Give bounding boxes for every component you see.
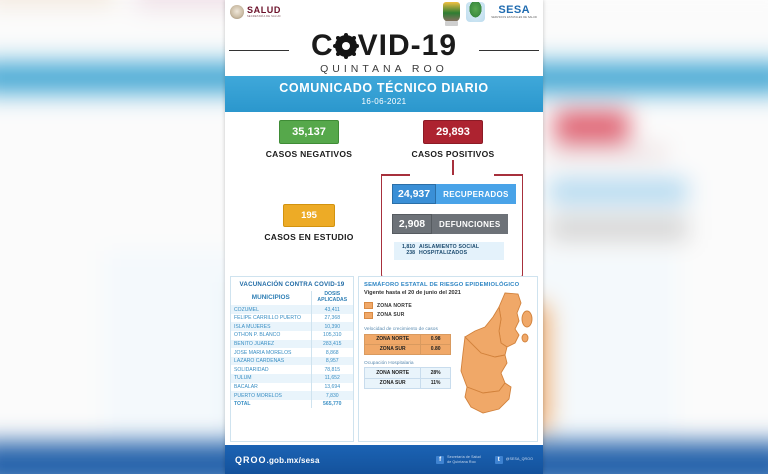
growth-rate-block: Velocidad de crecimiento de casos ZONA N… [359,321,456,355]
dosis-aplicadas-value: 283,415 [311,340,353,349]
table-row: ISLA MUJERES10,390 [231,322,353,331]
table-row: TOTAL565,770 [231,400,353,409]
stat-cases-in-study: 195 CASOS EN ESTUDIO [245,204,373,242]
dosis-aplicadas-value: 11,652 [311,374,353,383]
municipio-name: TULUM [231,374,311,383]
facebook-handle: Secretaría de Salud de Quintana Roo [447,455,481,464]
semaphore-title: SEMÁFORO ESTATAL DE RIESGO EPIDEMIOLÓGIC… [359,277,537,288]
website-url[interactable]: QROO.gob.mx/sesa [235,455,320,465]
logo-bar: SALUD SECRETARÍA DE SALUD SESA SERVICIOS… [225,0,543,30]
growth-value-norte: 0.98 [421,334,451,344]
facebook-line2: de Quintana Roo [447,460,476,464]
cases-in-study-value: 195 [283,204,335,227]
url-brand: QROO [235,455,267,465]
breakdown-row: 238 HOSPITALIZADOS [398,251,500,257]
vaccination-table: MUNICIPIOS DOSIS APLICADAS COZUMEL43,411… [231,291,353,408]
hospital-occupancy-block: Ocupación Hospitalaria ZONA NORTE 28% ZO… [359,355,456,389]
title-vid19: VID-19 [358,31,457,61]
growth-value-sur: 0.80 [421,344,451,354]
active-breakdown-box: 1,810 AISLAMIENTO SOCIAL 238 HOSPITALIZA… [394,242,504,260]
municipio-name: LAZARO CARDENAS [231,357,311,366]
municipio-name: ISLA MUJERES [231,322,311,331]
sesa-tree-seal-icon [466,2,485,22]
occupancy-zone-sur: ZONA SUR [365,378,421,388]
sesa-sublabel: SERVICIOS ESTATALES DE SALUD [491,17,537,20]
municipio-name: OTHON P. BLANCO [231,331,311,340]
recovered-label: RECUPERADOS [436,184,516,204]
legend-swatch-norte [364,302,373,309]
dosis-aplicadas-value: 78,815 [311,365,353,374]
col-dosis-aplicadas: DOSIS APLICADAS [311,291,353,305]
positive-cases-label: CASOS POSITIVOS [385,149,521,159]
title-rule-right [479,50,539,51]
hospitalized-value: 238 [398,251,415,257]
municipio-name: SOLIDARIDAD [231,365,311,374]
twitter-icon: t [495,456,503,464]
twitter-link[interactable]: t @SESA_QROO [495,456,533,464]
salud-logo: SALUD SECRETARÍA DE SALUD [230,5,281,19]
vaccination-card: VACUNACIÓN CONTRA COVID-19 MUNICIPIOS DO… [230,276,354,442]
dosis-aplicadas-value: 8,957 [311,357,353,366]
hospitalized-label: HOSPITALIZADOS [419,251,467,257]
dosis-aplicadas-value: 7,830 [311,391,353,400]
recovered-value: 24,937 [392,184,436,204]
stat-recovered: 24,937 RECUPERADOS [392,184,516,204]
banner-date: 16-06-2021 [225,97,543,106]
banner: COMUNICADO TÉCNICO DIARIO 16-06-2021 [225,76,543,112]
right-logos: SESA SERVICIOS ESTATALES DE SALUD [443,2,537,22]
dosis-aplicadas-value: 27,368 [311,314,353,323]
cases-in-study-label: CASOS EN ESTUDIO [245,232,373,242]
positive-cases-value: 29,893 [423,120,483,144]
municipio-name: PUERTO MORELOS [231,391,311,400]
table-row: FELIPE CARRILLO PUERTO27,368 [231,314,353,323]
url-rest: .gob.mx/sesa [267,456,320,465]
dosis-aplicadas-value: 565,770 [311,400,353,409]
occupancy-value-norte: 28% [421,368,451,378]
table-row: ZONA SUR 11% [365,378,451,388]
table-row: JOSE MARIA MORELOS8,868 [231,348,353,357]
growth-zone-norte: ZONA NORTE [365,334,421,344]
stat-deaths: 2,908 DEFUNCIONES [392,214,508,234]
screenshot-stage: SALUD SECRETARÍA DE SALUD SESA SERVICIOS… [0,0,768,474]
sesa-logo: SESA SERVICIOS ESTATALES DE SALUD [491,5,537,20]
table-row: ZONA NORTE 0.98 [365,334,451,344]
deaths-label: DEFUNCIONES [432,214,508,234]
bracket-stem [452,160,454,175]
social-links: f Secretaría de Salud de Quintana Roo t … [436,455,533,464]
mexico-eagle-icon [230,5,244,19]
page-subtitle: QUINTANA ROO [320,63,448,75]
negative-cases-label: CASOS NEGATIVOS [245,149,373,159]
dosis-aplicadas-value: 10,390 [311,322,353,331]
quintana-roo-map [455,291,538,419]
table-row: ZONA SUR 0.80 [365,344,451,354]
coronavirus-icon [335,35,357,57]
stats-section: 35,137 CASOS NEGATIVOS 29,893 CASOS POSI… [225,112,543,282]
sesa-label: SESA [491,5,537,16]
facebook-link[interactable]: f Secretaría de Salud de Quintana Roo [436,455,481,464]
table-row: ZONA NORTE 28% [365,368,451,378]
municipio-name: FELIPE CARRILLO PUERTO [231,314,311,323]
table-row: PUERTO MORELOS7,830 [231,391,353,400]
municipio-name: BACALAR [231,383,311,392]
title-c: C [311,31,334,61]
table-row: TULUM11,652 [231,374,353,383]
col-municipios: MUNICIPIOS [231,291,311,305]
salud-label: SALUD [247,6,281,15]
legend-label-norte: ZONA NORTE [377,303,412,309]
table-row: OTHON P. BLANCO105,310 [231,331,353,340]
facebook-icon: f [436,456,444,464]
negative-cases-value: 35,137 [279,120,339,144]
bottom-panels: VACUNACIÓN CONTRA COVID-19 MUNICIPIOS DO… [225,276,543,445]
poster-title-block: C VID-19 QUINTANA ROO [225,30,543,76]
table-row: BENITO JUAREZ283,415 [231,340,353,349]
table-row: LAZARO CARDENAS8,957 [231,357,353,366]
twitter-handle: @SESA_QROO [506,457,533,461]
table-row: COZUMEL43,411 [231,305,353,314]
semaphore-card: SEMÁFORO ESTATAL DE RIESGO EPIDEMIOLÓGIC… [358,276,538,442]
table-header-row: MUNICIPIOS DOSIS APLICADAS [231,291,353,305]
growth-rate-table: ZONA NORTE 0.98 ZONA SUR 0.80 [364,334,451,355]
positive-breakdown-bracket: 24,937 RECUPERADOS 2,908 DEFUNCIONES 1,8… [381,174,523,277]
footer: QROO.gob.mx/sesa f Secretaría de Salud d… [225,445,543,474]
salud-sublabel: SECRETARÍA DE SALUD [247,16,281,19]
growth-zone-sur: ZONA SUR [365,344,421,354]
occupancy-table: ZONA NORTE 28% ZONA SUR 11% [364,367,451,388]
vaccination-table-body: COZUMEL43,411FELIPE CARRILLO PUERTO27,36… [231,305,353,408]
deaths-value: 2,908 [392,214,432,234]
table-row: SOLIDARIDAD78,815 [231,365,353,374]
legend-label-sur: ZONA SUR [377,312,405,318]
stat-positive-cases: 29,893 CASOS POSITIVOS [385,120,521,159]
growth-rate-heading: Velocidad de crecimiento de casos [364,327,451,332]
page-title: C VID-19 [311,31,457,61]
dosis-aplicadas-value: 8,868 [311,348,353,357]
quintana-roo-seal-icon [443,2,460,22]
dosis-aplicadas-value: 43,411 [311,305,353,314]
municipio-name: COZUMEL [231,305,311,314]
occupancy-heading: Ocupación Hospitalaria [364,361,451,366]
municipio-name: JOSE MARIA MORELOS [231,348,311,357]
occupancy-zone-norte: ZONA NORTE [365,368,421,378]
title-rule-left [229,50,289,51]
legend-swatch-sur [364,312,373,319]
municipio-name: TOTAL [231,400,311,409]
covid-report-poster: SALUD SECRETARÍA DE SALUD SESA SERVICIOS… [225,0,543,474]
dosis-aplicadas-value: 105,310 [311,331,353,340]
vaccination-title: VACUNACIÓN CONTRA COVID-19 [231,277,353,291]
banner-title: COMUNICADO TÉCNICO DIARIO [225,81,543,95]
table-row: BACALAR13,694 [231,383,353,392]
stat-negative-cases: 35,137 CASOS NEGATIVOS [245,120,373,159]
occupancy-value-sur: 11% [421,378,451,388]
dosis-aplicadas-value: 13,694 [311,383,353,392]
municipio-name: BENITO JUAREZ [231,340,311,349]
